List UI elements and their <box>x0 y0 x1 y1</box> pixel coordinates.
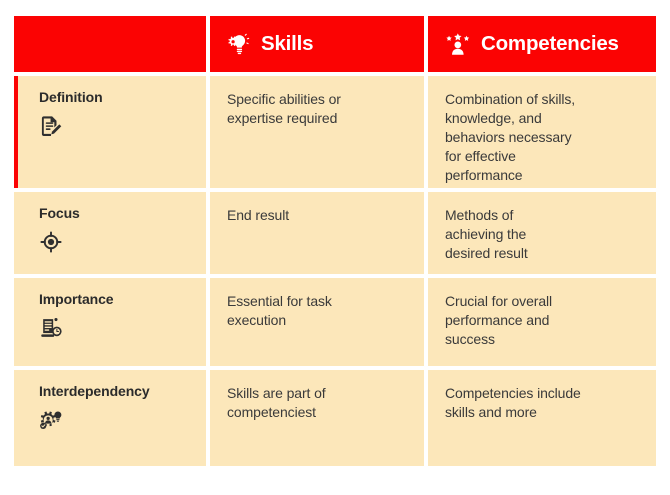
cell-text: Competencies include skills and more <box>445 384 639 422</box>
gear-person-icon <box>39 408 189 438</box>
table-row: Interdependency <box>14 370 656 466</box>
row-header-definition: Definition <box>14 76 206 188</box>
header-cell-skills: Skills <box>210 16 424 72</box>
cell-text: Skills are part of competenciest <box>227 384 407 422</box>
cell-interdependency-competencies: Competencies include skills and more <box>428 370 656 466</box>
header-cell-competencies: Competencies <box>428 16 656 72</box>
row-label: Importance <box>39 292 189 307</box>
cell-importance-skills: Essential for task execution <box>210 278 424 366</box>
row-label: Focus <box>39 206 189 221</box>
table-row: Definition Specific abilities or experti… <box>14 76 656 188</box>
row-header-importance: Importance <box>14 278 206 366</box>
header-label-competencies: Competencies <box>481 34 619 55</box>
cell-focus-competencies: Methods of achieving the desired result <box>428 192 656 274</box>
cell-importance-competencies: Crucial for overall performance and succ… <box>428 278 656 366</box>
cell-text: Essential for task execution <box>227 292 407 330</box>
table-row: Importance Essential for task e <box>14 278 656 366</box>
cell-text: Combination of skills, knowledge, and be… <box>445 90 639 184</box>
cell-text: Specific abilities or expertise required <box>227 90 407 128</box>
person-stars-icon <box>445 32 472 57</box>
skills-vs-competencies-table: Skills Competencies <box>14 16 656 478</box>
header-cell-blank <box>14 16 206 72</box>
row-label: Definition <box>39 90 189 105</box>
cell-text: Methods of achieving the desired result <box>445 206 639 263</box>
cell-definition-competencies: Combination of skills, knowledge, and be… <box>428 76 656 188</box>
cell-text: End result <box>227 206 407 225</box>
cell-definition-skills: Specific abilities or expertise required <box>210 76 424 188</box>
document-edit-icon <box>39 114 189 144</box>
target-crosshair-icon <box>39 230 189 259</box>
table-header-row: Skills Competencies <box>14 16 656 72</box>
row-label: Interdependency <box>39 384 189 399</box>
cell-focus-skills: End result <box>210 192 424 274</box>
cell-interdependency-skills: Skills are part of competenciest <box>210 370 424 466</box>
row-header-interdependency: Interdependency <box>14 370 206 466</box>
document-clock-icon <box>39 316 189 346</box>
row-header-focus: Focus <box>14 192 206 274</box>
header-label-skills: Skills <box>261 34 313 55</box>
table-row: Focus End result Methods of achieving th… <box>14 192 656 274</box>
lightbulb-gear-icon <box>227 32 252 57</box>
cell-text: Crucial for overall performance and succ… <box>445 292 639 349</box>
